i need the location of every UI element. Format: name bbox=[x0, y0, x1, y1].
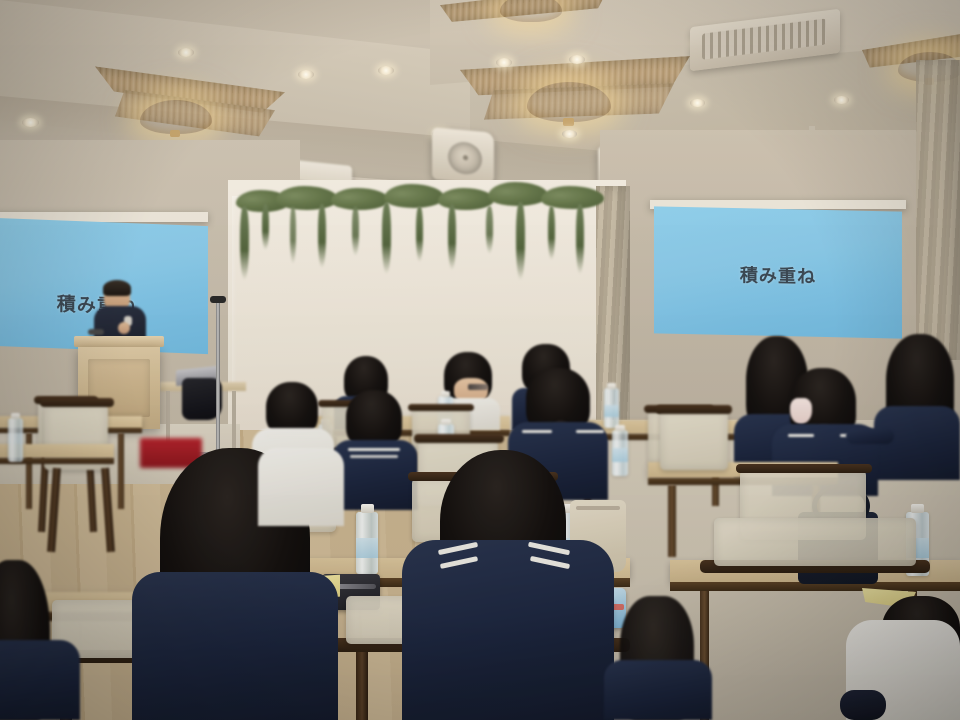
side-table-leg-2 bbox=[232, 391, 236, 453]
downlight-11 bbox=[834, 96, 849, 104]
chair-right-1-rail bbox=[656, 405, 732, 414]
seminar-room-photo: 積み重ね 積み重ね bbox=[0, 0, 960, 720]
student-mid-1-collar bbox=[266, 434, 320, 437]
vine-2 bbox=[262, 204, 269, 250]
vine-1 bbox=[240, 206, 249, 280]
chair-row2-right-rail bbox=[736, 464, 872, 473]
right-slide-text: 積み重ね bbox=[740, 261, 816, 289]
curtain-far-right bbox=[916, 60, 960, 360]
student-mid-3-collar-1 bbox=[522, 430, 552, 433]
presenter-hand bbox=[118, 322, 130, 334]
downlight-6 bbox=[569, 55, 585, 64]
water-bottle-mid-2 bbox=[612, 430, 628, 476]
student-far-2-glasses bbox=[468, 384, 488, 390]
podium-top bbox=[74, 336, 164, 347]
vine-5 bbox=[352, 206, 359, 256]
student-edge-right-body bbox=[604, 660, 712, 720]
downlight-8 bbox=[562, 130, 577, 138]
podium-microphone bbox=[88, 329, 104, 335]
vine-3 bbox=[290, 206, 296, 264]
vine-10 bbox=[516, 202, 525, 280]
downlight-10 bbox=[690, 99, 705, 107]
vine-12 bbox=[576, 204, 584, 274]
microphone-stand-head bbox=[210, 296, 226, 303]
water-bottle-bg-1 bbox=[8, 418, 23, 462]
vine-9 bbox=[486, 206, 493, 254]
chair-far-2-rail bbox=[408, 404, 474, 411]
student-right-2-face-mask bbox=[790, 398, 812, 424]
student-front-2-body bbox=[402, 540, 614, 720]
chair-front-center-leg-1 bbox=[356, 652, 368, 720]
water-bottle-far-2 bbox=[604, 388, 619, 428]
pendant-lamp-2-knob bbox=[563, 118, 574, 126]
student-right-3-arm bbox=[846, 428, 894, 444]
chair-mid-1-rail bbox=[414, 434, 504, 443]
student-far-left-body bbox=[0, 640, 80, 720]
downlight-3 bbox=[298, 70, 314, 79]
table-right-mid-leg-1 bbox=[668, 485, 676, 557]
pendant-lamp-1 bbox=[140, 100, 212, 134]
right-projection-screen: 積み重ね bbox=[654, 206, 902, 338]
student-behind-white-body bbox=[258, 448, 344, 526]
student-mid-2-collar-2 bbox=[350, 455, 398, 458]
vine-8 bbox=[448, 204, 456, 270]
vine-6 bbox=[382, 202, 391, 274]
student-mid-3-collar-2 bbox=[576, 430, 604, 433]
wall-speaker-center bbox=[432, 127, 494, 184]
water-bottle-front-1 bbox=[356, 512, 378, 574]
vine-7 bbox=[416, 206, 423, 262]
downlight-5 bbox=[496, 58, 512, 67]
student-right-2-collar-1 bbox=[788, 434, 814, 437]
student-right-5-arm bbox=[840, 690, 886, 720]
table-bg-left-leg-2 bbox=[118, 433, 124, 509]
student-front-1-body bbox=[132, 572, 338, 720]
chair-bg-2-rail bbox=[40, 398, 114, 407]
pendant-lamp-3 bbox=[500, 0, 562, 22]
chair-front-right-back bbox=[714, 518, 916, 566]
downlight-2 bbox=[178, 48, 194, 57]
microphone-stand-pole bbox=[216, 300, 220, 458]
presenter-hair bbox=[103, 280, 131, 296]
pendant-lamp-1-knob bbox=[170, 130, 180, 137]
vine-11 bbox=[548, 206, 555, 260]
student-mid-2-collar-1 bbox=[348, 448, 400, 451]
chair-right-1 bbox=[660, 410, 728, 470]
downlight-4 bbox=[378, 66, 394, 75]
vine-4 bbox=[318, 204, 326, 268]
downlight-1 bbox=[22, 118, 39, 127]
